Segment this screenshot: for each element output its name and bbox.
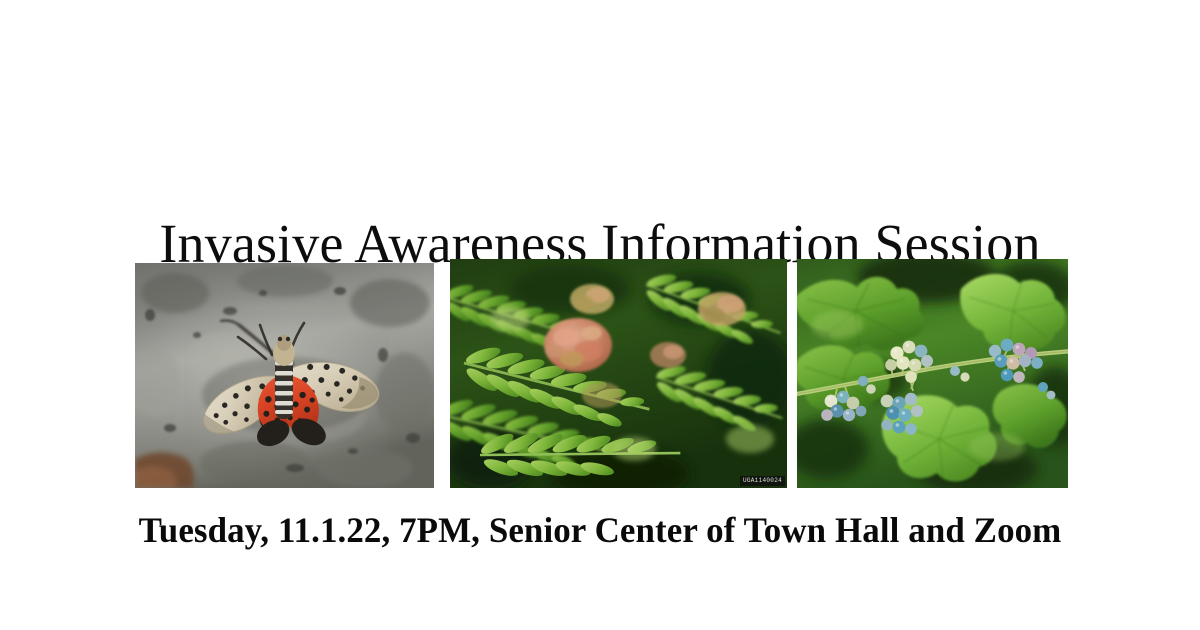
event-details-caption: Tuesday, 11.1.22, 7PM, Senior Center of … [18,508,1182,552]
spotted-lanternfly-illustration [135,263,434,488]
spotted-lanternfly-photo [135,263,434,488]
porcelain-berry-illustration [797,259,1068,488]
image-watermark: UGA1140024 [740,476,785,486]
porcelain-berry-photo [797,259,1068,488]
tree-of-heaven-photo: UGA1140024 [450,259,787,488]
event-flyer: Invasive Awareness Information Session [0,0,1200,630]
photo-strip: UGA1140024 [135,259,1068,488]
tree-of-heaven-illustration [450,259,787,488]
